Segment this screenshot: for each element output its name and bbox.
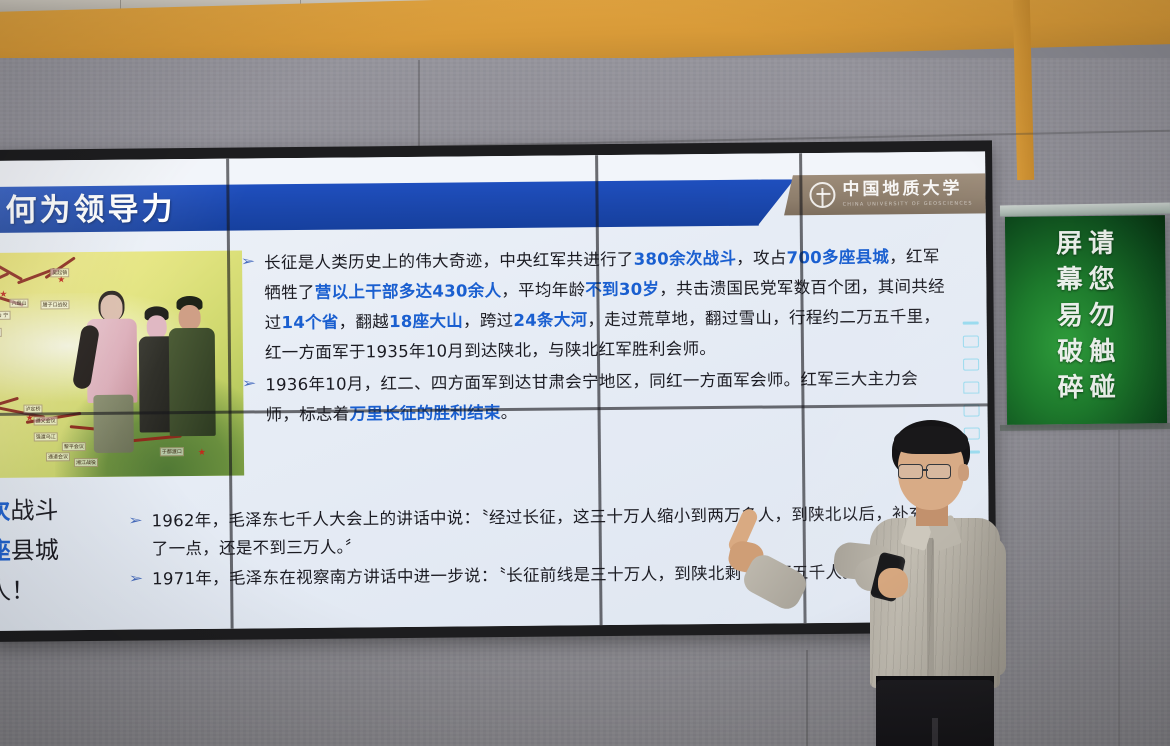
highlighted-text: 24条大河 [513,310,587,330]
eyeglasses-left-lens [898,464,923,479]
wall-seam-vertical-right [806,650,808,746]
warning-char-right: 触 [1089,334,1115,370]
warning-char-right: 勿 [1089,298,1115,334]
body-text: 长征是人类历史上的伟大奇迹，中央红军共进行了 [264,250,634,273]
shirt-placket [927,538,934,688]
wall-seam-vertical-far [1118,430,1120,746]
body-text: 1962年，毛泽东七千人大会上的讲话中说：〝经过长征，这三十万人缩小到两万多人，… [151,504,925,558]
body-text: ，平均年龄 [501,280,585,300]
pen-bar-icon[interactable] [963,321,979,324]
bullet-item: ➢1936年10月，红二、四方面军到达甘肃会宁地区，同红一方面军会师。红军三大主… [245,364,951,431]
presentation-icon[interactable] [963,335,979,347]
highlighted-text: 18座大山 [389,311,463,331]
highlighted-text: 万里长征的胜利结束 [349,403,500,423]
warning-column-left: 屏幕易破碎 [1056,226,1084,424]
overlay-bold: 余次 [0,497,11,525]
eyeglasses-bridge [923,469,928,471]
overlay-line: 多座县城 [0,530,143,572]
eyeglasses-right-lens [926,464,951,479]
bullet-arrow-icon: ➢ [240,248,267,268]
figure-mao [82,290,146,451]
ear [958,464,969,481]
warning-char-right: 您 [1088,262,1114,298]
wall-seam-vertical-left [418,60,420,146]
slide-bullet-list-lower: ➢1962年，毛泽东七千人大会上的讲话中说：〝经过长征，这三十万人缩小到两万多人… [131,500,932,596]
university-name-en: CHINA UNIVERSITY OF GEOSCIENCES [843,201,973,208]
prev-slide-icon[interactable] [963,404,979,416]
pointer-icon[interactable] [963,358,979,370]
overlay-bold: 多座 [0,537,11,565]
warning-char-left: 碎 [1058,370,1084,406]
overlay-line: 余次战斗 [0,490,143,532]
lecturer [848,418,1058,746]
warning-char-left: 屏 [1056,226,1082,262]
bullet-1962-quote: 1962年，毛泽东七千人大会上的讲话中说：〝经过长征，这三十万人缩小到两万多人，… [151,500,932,563]
home-icon[interactable] [963,381,979,393]
university-logo: 中国地质大学 CHINA UNIVERSITY OF GEOSCIENCES [793,173,989,215]
overlay-rest: 战斗 [10,496,58,524]
overlay-left-text: 余次战斗多座县城余人！ [0,490,143,612]
warning-char-left: 破 [1057,334,1083,370]
figure-soldier-3 [168,296,217,436]
overlay-line: 余人！ [0,570,143,612]
university-seal-icon [809,182,835,208]
highlighted-text: 700多座县城 [787,247,890,267]
warning-column-right: 请您勿触碰 [1088,226,1116,424]
warning-char-right: 碰 [1090,370,1116,406]
slide-title-bar-slant [728,179,794,226]
slide-bullet-list: ➢长征是人类历史上的伟大奇迹，中央红军共进行了380余次战斗，攻占700多座县城… [244,242,951,433]
bullet-1971-quote: 1971年，毛泽东在视察南方讲话中进一步说：〝长征前线是三十万人，到陕北剩下二万… [152,558,932,593]
body-text: 。 [501,403,518,422]
university-name-cn: 中国地质大学 [842,181,972,199]
overlay-rest: 县城 [11,536,59,564]
bullet-arrow-icon: ➢ [242,370,269,390]
warning-char-left: 幕 [1056,262,1082,298]
bullet-item: ➢1971年，毛泽东在视察南方讲话中进一步说：〝长征前线是三十万人，到陕北剩下二… [132,558,932,594]
bullet-item: ➢长征是人类历史上的伟大奇迹，中央红军共进行了380余次战斗，攻占700多座县城… [244,242,950,369]
highlighted-text: 不到30岁 [585,280,659,300]
long-march-map-image: ★ ★ ★ ★ ★ 吴起镇 六盘山 腊子口战役 会 宁 两河口会议 懋功 巧渡赤… [0,251,244,479]
hair-fringe [894,426,968,454]
warning-char-right: 请 [1088,226,1114,262]
warning-char-left: 易 [1057,298,1083,334]
highlighted-text: 营以上干部多达430余人 [315,281,502,302]
highlighted-text: 14个省 [281,313,338,333]
slide-title: 何为领导力 [5,186,305,233]
bullet-item: ➢1962年，毛泽东七千人大会上的讲话中说：〝经过长征，这三十万人缩小到两万多人… [131,500,932,564]
overlay-rest: 人！ [0,577,35,605]
screen-warning-sign: 请您勿触碰 屏幕易破碎 [1005,215,1167,425]
body-text: ，攻占 [736,248,787,267]
left-hand [878,568,908,598]
highlighted-text: 380余次战斗 [634,249,737,269]
leg-gap [932,718,938,746]
body-text: ，翻越 [339,312,390,331]
lecture-hall-scene: 何为领导力 中国地质大学 CHINA UNIVERSITY OF GEOSCIE… [0,0,1170,746]
bullet-long-march-stats: 长征是人类历史上的伟大奇迹，中央红军共进行了380余次战斗，攻占700多座县城，… [264,242,950,369]
body-text: ，跨过 [463,311,514,330]
